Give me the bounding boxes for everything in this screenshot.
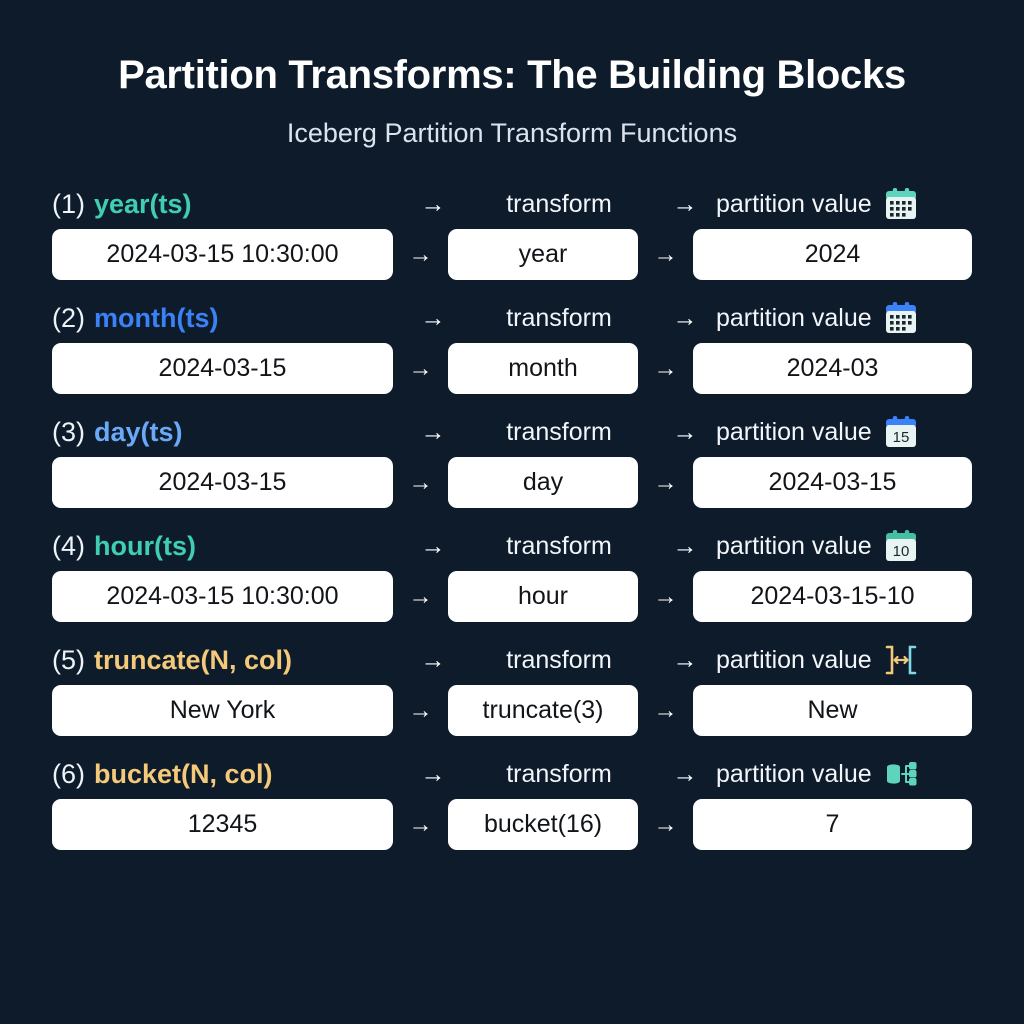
transform-rows: (1)year(ts)→transform→partition value202…: [52, 185, 972, 850]
row-function-name: year(ts): [94, 189, 192, 220]
output-value-chip[interactable]: 2024-03-15-10: [693, 571, 972, 622]
row-value-line: New York→truncate(3)→New: [52, 685, 972, 736]
header-arrow-icon: →: [654, 760, 716, 789]
row-index: (2): [52, 303, 85, 334]
header-arrow-icon: →: [402, 190, 464, 219]
value-arrow-icon: →: [393, 241, 448, 269]
transform-row: (1)year(ts)→transform→partition value202…: [52, 185, 972, 280]
value-arrow-icon: →: [638, 241, 693, 269]
input-value-chip[interactable]: 2024-03-15 10:30:00: [52, 229, 393, 280]
transform-column-label: transform: [464, 646, 654, 675]
transform-row: (2)month(ts)→transform→partition value20…: [52, 299, 972, 394]
transform-column-label: transform: [464, 304, 654, 333]
input-value-chip[interactable]: 12345: [52, 799, 393, 850]
row-function-label: (5)truncate(N, col): [52, 645, 402, 676]
output-value-chip[interactable]: 7: [693, 799, 972, 850]
header-arrow-icon: →: [654, 190, 716, 219]
transform-chip[interactable]: hour: [448, 571, 638, 622]
row-function-name: hour(ts): [94, 531, 196, 562]
page-subtitle: Iceberg Partition Transform Functions: [52, 118, 972, 149]
partition-value-text: partition value: [716, 646, 872, 675]
row-value-line: 2024-03-15 10:30:00→hour→2024-03-15-10: [52, 571, 972, 622]
row-value-line: 12345→bucket(16)→7: [52, 799, 972, 850]
value-arrow-icon: →: [638, 469, 693, 497]
row-function-label: (3)day(ts): [52, 417, 402, 448]
page-title: Partition Transforms: The Building Block…: [52, 52, 972, 98]
input-value-chip[interactable]: 2024-03-15: [52, 343, 393, 394]
header-arrow-icon: →: [402, 418, 464, 447]
transform-row: (5)truncate(N, col)→transform→partition …: [52, 641, 972, 736]
calendar-hour-icon: 10: [884, 529, 918, 563]
partition-value-column-label: partition value: [716, 301, 972, 335]
transform-column-label: transform: [464, 418, 654, 447]
transform-row: (4)hour(ts)→transform→partition value102…: [52, 527, 972, 622]
partition-value-column-label: partition value15: [716, 415, 972, 449]
row-label-line: (1)year(ts)→transform→partition value: [52, 185, 972, 223]
row-function-name: day(ts): [94, 417, 183, 448]
row-function-name: truncate(N, col): [94, 645, 292, 676]
svg-text:10: 10: [892, 543, 909, 560]
row-function-label: (6)bucket(N, col): [52, 759, 402, 790]
transform-chip[interactable]: month: [448, 343, 638, 394]
value-arrow-icon: →: [393, 355, 448, 383]
transform-chip[interactable]: truncate(3): [448, 685, 638, 736]
row-index: (1): [52, 189, 85, 220]
header-arrow-icon: →: [654, 304, 716, 333]
row-index: (4): [52, 531, 85, 562]
row-function-name: month(ts): [94, 303, 218, 334]
transform-chip[interactable]: year: [448, 229, 638, 280]
header-arrow-icon: →: [402, 304, 464, 333]
transform-chip[interactable]: bucket(16): [448, 799, 638, 850]
row-function-label: (1)year(ts): [52, 189, 402, 220]
calendar-icon: [884, 187, 918, 221]
transform-chip[interactable]: day: [448, 457, 638, 508]
value-arrow-icon: →: [393, 697, 448, 725]
partition-value-column-label: partition value: [716, 187, 972, 221]
row-index: (6): [52, 759, 85, 790]
header-arrow-icon: →: [654, 646, 716, 675]
input-value-chip[interactable]: 2024-03-15: [52, 457, 393, 508]
value-arrow-icon: →: [638, 811, 693, 839]
row-value-line: 2024-03-15 10:30:00→year→2024: [52, 229, 972, 280]
output-value-chip[interactable]: 2024-03-15: [693, 457, 972, 508]
header-arrow-icon: →: [654, 532, 716, 561]
output-value-chip[interactable]: New: [693, 685, 972, 736]
row-label-line: (5)truncate(N, col)→transform→partition …: [52, 641, 972, 679]
output-value-chip[interactable]: 2024-03: [693, 343, 972, 394]
partition-value-column-label: partition value10: [716, 529, 972, 563]
transform-column-label: transform: [464, 532, 654, 561]
partition-value-column-label: partition value: [716, 757, 972, 791]
row-value-line: 2024-03-15→month→2024-03: [52, 343, 972, 394]
value-arrow-icon: →: [393, 583, 448, 611]
row-index: (3): [52, 417, 85, 448]
header: Partition Transforms: The Building Block…: [52, 52, 972, 149]
header-arrow-icon: →: [402, 532, 464, 561]
bucket-database-icon: [884, 757, 918, 791]
partition-value-text: partition value: [716, 418, 872, 447]
slide-root: Partition Transforms: The Building Block…: [0, 0, 1024, 1024]
header-arrow-icon: →: [402, 760, 464, 789]
row-label-line: (6)bucket(N, col)→transform→partition va…: [52, 755, 972, 793]
header-arrow-icon: →: [402, 646, 464, 675]
truncate-arrows-icon: [884, 643, 918, 677]
partition-value-text: partition value: [716, 304, 872, 333]
calendar-icon: [884, 301, 918, 335]
input-value-chip[interactable]: 2024-03-15 10:30:00: [52, 571, 393, 622]
row-function-label: (4)hour(ts): [52, 531, 402, 562]
value-arrow-icon: →: [638, 583, 693, 611]
row-value-line: 2024-03-15→day→2024-03-15: [52, 457, 972, 508]
row-function-name: bucket(N, col): [94, 759, 273, 790]
row-label-line: (2)month(ts)→transform→partition value: [52, 299, 972, 337]
input-value-chip[interactable]: New York: [52, 685, 393, 736]
svg-text:15: 15: [892, 429, 909, 446]
partition-value-column-label: partition value: [716, 643, 972, 677]
partition-value-text: partition value: [716, 532, 872, 561]
transform-column-label: transform: [464, 760, 654, 789]
value-arrow-icon: →: [638, 697, 693, 725]
value-arrow-icon: →: [638, 355, 693, 383]
value-arrow-icon: →: [393, 469, 448, 497]
calendar-day-icon: 15: [884, 415, 918, 449]
row-label-line: (4)hour(ts)→transform→partition value10: [52, 527, 972, 565]
row-index: (5): [52, 645, 85, 676]
transform-row: (6)bucket(N, col)→transform→partition va…: [52, 755, 972, 850]
transform-column-label: transform: [464, 190, 654, 219]
row-function-label: (2)month(ts): [52, 303, 402, 334]
header-arrow-icon: →: [654, 418, 716, 447]
row-label-line: (3)day(ts)→transform→partition value15: [52, 413, 972, 451]
partition-value-text: partition value: [716, 760, 872, 789]
transform-row: (3)day(ts)→transform→partition value1520…: [52, 413, 972, 508]
partition-value-text: partition value: [716, 190, 872, 219]
value-arrow-icon: →: [393, 811, 448, 839]
output-value-chip[interactable]: 2024: [693, 229, 972, 280]
